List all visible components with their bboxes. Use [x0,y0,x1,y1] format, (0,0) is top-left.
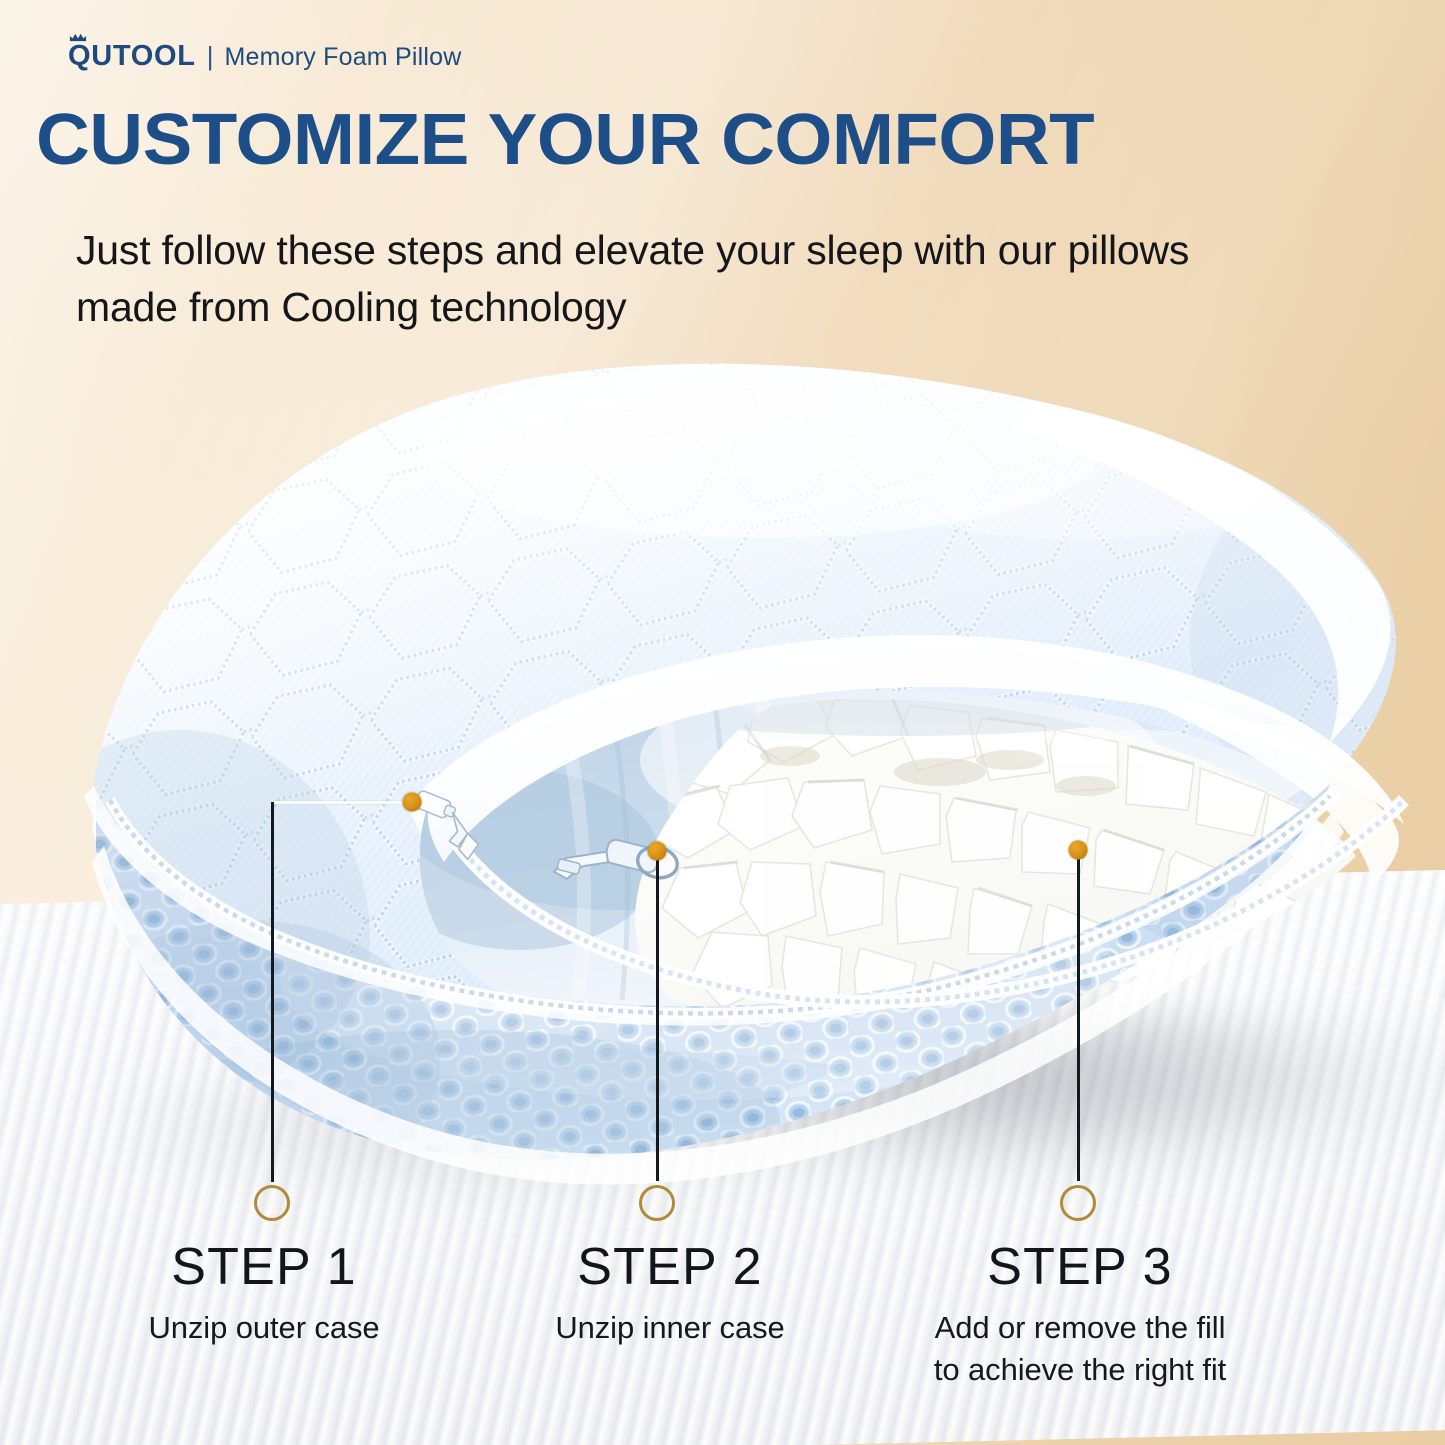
step-3-description: Add or remove the fill to achieve the ri… [860,1307,1300,1390]
step-3-block: STEP 3 Add or remove the fill to achieve… [860,1240,1300,1390]
step-1-leader-vertical [271,802,274,1182]
step-2-leader-vertical [656,851,659,1181]
inner-case-rim [1168,700,1399,884]
pillow-shadow-secondary [120,1080,820,1260]
step-2-title: STEP 2 [470,1240,870,1295]
crown-icon [69,33,87,42]
page-subtitle: Just follow these steps and elevate your… [76,222,1236,335]
step-3-marker-dot [1069,841,1088,860]
step-2-description: Unzip inner case [470,1307,870,1349]
product-infographic: QUTOOL | Memory Foam Pillow CUSTOMIZE YO… [0,0,1445,1445]
step-1-leader-horizontal [272,801,406,804]
step-2-block: STEP 2 Unzip inner case [470,1240,870,1349]
inner-case-flap [428,644,1290,862]
step-1-title: STEP 1 [64,1240,464,1295]
step-1-description: Unzip outer case [64,1307,464,1349]
step-3-title: STEP 3 [860,1240,1300,1295]
outer-case-lip [1010,402,1390,742]
step-2-ring-icon [639,1185,675,1221]
step-3-ring-icon [1060,1185,1096,1221]
brand-bar: QUTOOL | Memory Foam Pillow [68,40,461,73]
step-1-block: STEP 1 Unzip outer case [64,1240,464,1349]
step-2-marker-dot [648,842,667,861]
brand-logo-text: QUTOOL [68,40,196,72]
step-1-ring-icon [254,1185,290,1221]
page-title: CUSTOMIZE YOUR COMFORT [36,104,1445,176]
step-1-marker-dot [403,793,422,812]
step-3-leader-vertical [1077,850,1080,1181]
brand-logo: QUTOOL [68,40,196,73]
brand-separator: | [207,41,214,72]
outer-case-opening-edge [408,635,1404,834]
product-line-label: Memory Foam Pillow [225,43,462,72]
